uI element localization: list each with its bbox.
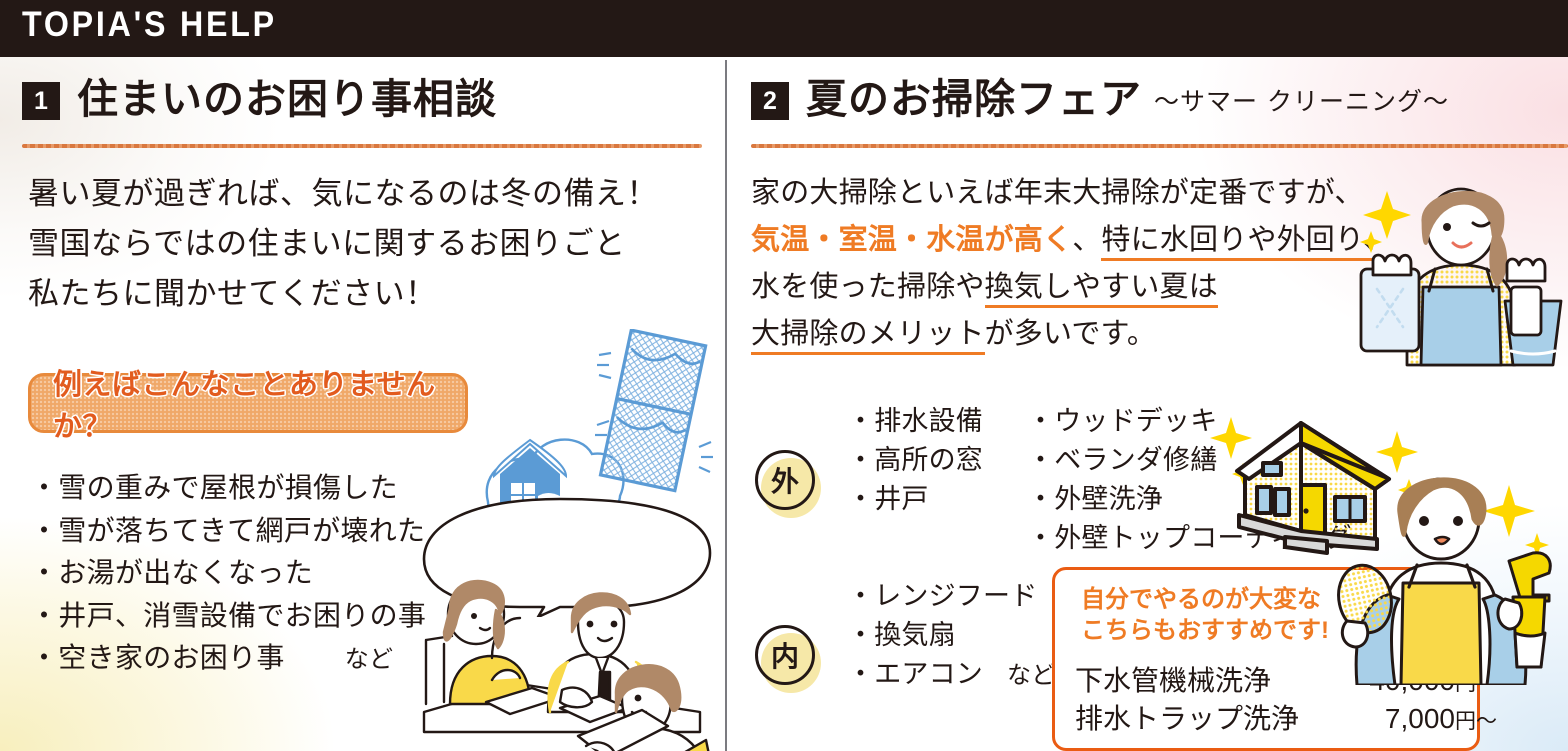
- section-2-title: 夏のお掃除フェア: [806, 79, 1142, 120]
- table-row: 排水トラップ洗浄 7,000 円～: [1075, 700, 1497, 738]
- section-2-body-line-2: 気温・室温・水温が高く、特に水回りや外回り、: [751, 218, 1392, 264]
- price-lead-line-2: こちらもおすすめです!: [1081, 615, 1329, 646]
- underlined-text: 換気しやすい夏は: [985, 271, 1218, 308]
- outside-service-column-1: ・排水設備 ・高所の窓 ・井戸: [847, 402, 983, 519]
- section-1-bullet-list: ・雪の重みで屋根が損傷した ・雪が落ちてきて網戸が壊れた ・お湯が出なくなった …: [30, 467, 426, 680]
- section-2-subtitle: ～サマー クリーニング～: [1154, 82, 1449, 118]
- list-item: ・排水設備: [847, 402, 983, 441]
- price-box-lead: 自分でやるのが大変な こちらもおすすめです!: [1081, 584, 1329, 646]
- section-1-rule: [22, 144, 702, 148]
- section-1-lead-line-3: 私たちに聞かせてください！: [28, 269, 437, 319]
- list-item-suffix: など: [345, 646, 394, 673]
- broken-screen-door-icon: [593, 329, 719, 494]
- section-2-rule: [751, 144, 1568, 148]
- list-item-label: ・エアコン: [847, 659, 983, 689]
- list-item: ・井戸、消雪設備でお困りの事: [30, 595, 426, 638]
- section-2-heading: 2 夏のお掃除フェア ～サマー クリーニング～: [751, 79, 1449, 120]
- list-item-suffix: など: [1007, 662, 1055, 689]
- section-1-lead-line-2: 雪国ならではの住まいに関するお困りごと: [28, 219, 626, 269]
- list-item: ・エアコンなど: [847, 655, 1055, 694]
- list-item: ・レンジフード: [847, 577, 1055, 616]
- group-badge-inside: 内: [755, 625, 821, 691]
- cleaning-woman-bucket-icon: [1355, 165, 1567, 375]
- section-1-title: 住まいのお困り事相談: [77, 79, 497, 120]
- section-1-heading: 1 住まいのお困り事相談: [22, 79, 497, 120]
- body-text: 水を使った掃除や: [751, 271, 985, 303]
- flyer-page: TOPIA'S HELP 1 住まいのお困り事相談 暑い夏が過ぎれば、気になるの…: [0, 0, 1568, 751]
- body-text: が多いです。: [985, 318, 1156, 350]
- section-2-body-line-1: 家の大掃除といえば年末大掃除が定番ですが、: [751, 171, 1364, 217]
- section-2: 2 夏のお掃除フェア ～サマー クリーニング～ 家の大掃除といえば年末大掃除が定…: [727, 57, 1568, 751]
- list-item-label: ・空き家のお困り事: [30, 642, 285, 673]
- price-value: 7,000: [1305, 700, 1455, 738]
- price-lead-line-1: 自分でやるのが大変な: [1081, 584, 1329, 615]
- group-badge-outside: 外: [755, 450, 821, 516]
- inside-service-column: ・レンジフード ・換気扇 ・エアコンなど: [847, 577, 1055, 694]
- section-1: 1 住まいのお困り事相談 暑い夏が過ぎれば、気になるのは冬の備え！ 雪国ならでは…: [0, 57, 725, 751]
- price-unit: 円～: [1455, 708, 1497, 736]
- cleaning-man-spray-icon: [1337, 455, 1568, 685]
- list-item: ・高所の窓: [847, 441, 983, 480]
- body-text: 、: [1072, 224, 1101, 256]
- consultation-people-icon: [400, 562, 725, 751]
- badge-label: 外: [755, 450, 815, 510]
- example-question-badge: 例えばこんなことありませんか？: [28, 373, 468, 433]
- list-item: ・井戸: [847, 480, 983, 519]
- list-item: ・雪が落ちてきて網戸が壊れた: [30, 510, 426, 553]
- page-header-bar: TOPIA'S HELP: [0, 0, 1568, 57]
- price-name: 下水管機械洗浄: [1075, 662, 1305, 700]
- list-item: ・換気扇: [847, 616, 1055, 655]
- page-title: TOPIA'S HELP: [22, 5, 277, 45]
- section-1-number: 1: [22, 82, 60, 120]
- underlined-text: 特に水回りや外回り、: [1101, 224, 1392, 261]
- badge-label: 内: [755, 625, 815, 685]
- section-1-lead-line-1: 暑い夏が過ぎれば、気になるのは冬の備え！: [28, 169, 658, 219]
- list-item: ・お湯が出なくなった: [30, 552, 426, 595]
- highlight-text: 気温・室温・水温が高く: [751, 224, 1072, 256]
- list-item: ・雪の重みで屋根が損傷した: [30, 467, 426, 510]
- list-item: ・空き家のお困り事など: [30, 637, 426, 680]
- section-2-body-line-3: 水を使った掃除や換気しやすい夏は: [751, 265, 1218, 311]
- underlined-text: 大掃除のメリット: [751, 318, 985, 355]
- section-2-number: 2: [751, 82, 789, 120]
- section-2-body-line-4: 大掃除のメリットが多いです。: [751, 312, 1156, 358]
- price-name: 排水トラップ洗浄: [1075, 700, 1305, 738]
